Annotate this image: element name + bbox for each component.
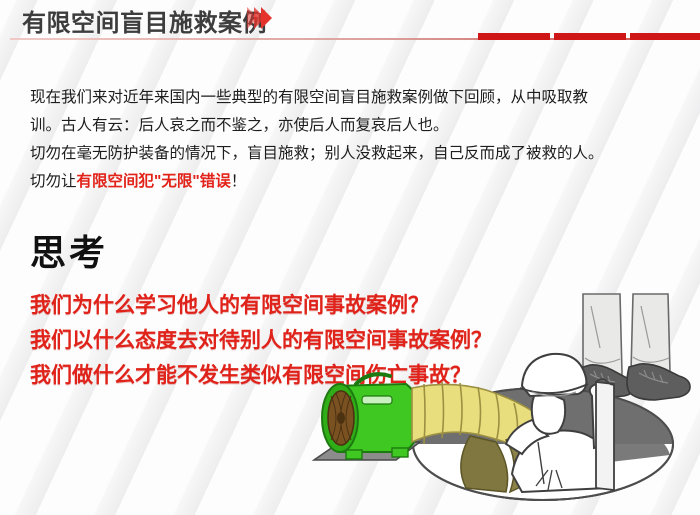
header-accent-bars [474, 33, 700, 40]
intro-paragraph: 现在我们来对近年来国内一些典型的有限空间盲目施救案例做下回顾，从中吸取教 训。古… [30, 84, 670, 196]
section-heading-think: 思考 [30, 224, 108, 276]
page-title: 有限空间盲目施救案例 [22, 3, 267, 38]
slide-header: 有限空间盲目施救案例 [0, 0, 700, 46]
chevron-right-icon-2 [254, 7, 265, 29]
slide-canvas: 有限空间盲目施救案例 现在我们来对近年来国内一些典型的有限空间盲目施救案例做下回… [0, 0, 700, 515]
confined-space-ventilation-illustration [300, 292, 700, 515]
intro-line-4-highlight: 有限空间犯"无限"错误 [77, 173, 231, 190]
double-chevron-right-icon [247, 7, 268, 29]
intro-line-4-suffix: ！ [231, 173, 247, 190]
intro-line-4: 切勿让有限空间犯"无限"错误！ [30, 168, 670, 196]
intro-line-4-prefix: 切勿让 [30, 173, 77, 190]
accent-bar-1 [478, 33, 550, 40]
intro-line-2: 训。古人有云：后人哀之而不鉴之，亦使后人而复哀后人也。 [30, 112, 670, 140]
accent-bar-3 [630, 33, 700, 40]
green-ventilation-blower [314, 374, 420, 460]
accent-bar-2 [554, 33, 626, 40]
intro-line-3: 切勿在毫无防护装备的情况下，盲目施救；别人没救起来，自己反而成了被救的人。 [30, 140, 670, 168]
intro-line-1: 现在我们来对近年来国内一些典型的有限空间盲目施救案例做下回顾，从中吸取教 [30, 84, 670, 112]
